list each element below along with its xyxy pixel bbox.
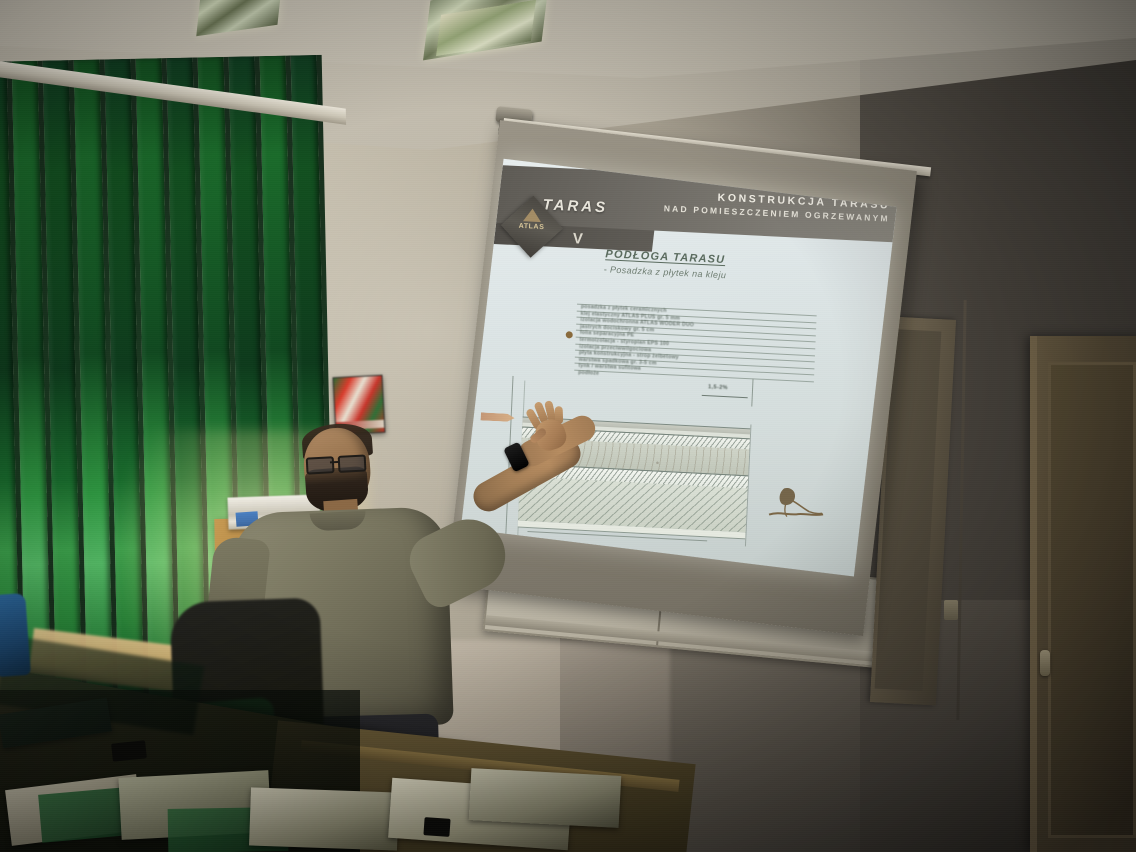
- presenter-glasses: [306, 454, 369, 470]
- dark-object: [423, 817, 450, 837]
- dimension-line-right: [751, 378, 753, 406]
- slope-label: 1,5-2%: [708, 384, 728, 391]
- slide-header-left-title: TARAS: [542, 196, 608, 216]
- stork-logo: [764, 483, 828, 532]
- glasses-lens-right: [338, 454, 367, 472]
- legend-text: podłoże: [578, 370, 599, 377]
- room-door[interactable]: [1048, 362, 1136, 838]
- legend-bullet-icon: [566, 331, 573, 338]
- brochure: [469, 768, 622, 828]
- atlas-logo-text: ATLAS: [519, 223, 545, 231]
- glasses-lens-left: [306, 456, 335, 474]
- slide-subtitle: PODŁOGA TARASU: [605, 248, 725, 266]
- light-switch[interactable]: [944, 600, 958, 620]
- slide-bullet: - Posadzka z płytek na kleju: [603, 264, 726, 280]
- dark-object: [111, 740, 147, 761]
- v-mark-icon: V: [572, 230, 583, 248]
- door-handle[interactable]: [1040, 650, 1050, 676]
- legend-rule: [574, 370, 814, 383]
- slide-legend: posadzka z płytek ceramicznych klej elas…: [574, 304, 817, 388]
- photo-scene: TARAS KONSTRUKCJA TARASU NAD POMIESZCZEN…: [0, 0, 1136, 852]
- brochure: [249, 787, 399, 850]
- atlas-peak-icon: [523, 208, 542, 222]
- slope-indicator-line: [702, 395, 748, 398]
